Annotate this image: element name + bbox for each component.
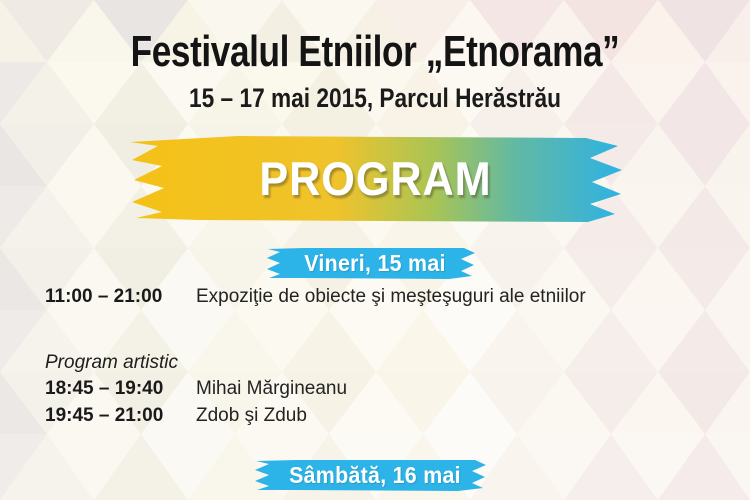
- day-ribbon-vineri: Vineri, 15 mai: [264, 246, 486, 280]
- program-banner: PROGRAM: [118, 132, 633, 224]
- schedule-row: 19:45 – 21:00 Zdob şi Zdub: [45, 406, 705, 427]
- page-subtitle: 15 – 17 mai 2015, Parcul Herăstrău: [60, 85, 690, 112]
- program-banner-label: PROGRAM: [139, 132, 613, 226]
- schedule-description: Mihai Mărgineanu: [196, 379, 347, 400]
- schedule-time: 19:45 – 21:00: [45, 406, 196, 427]
- schedule-section-note: Program artistic: [45, 352, 705, 374]
- schedule-row: 18:45 – 19:40 Mihai Mărgineanu: [45, 379, 705, 400]
- day-ribbon-sambata-label: Sâmbătă, 16 mai: [261, 458, 490, 493]
- schedule-time: 18:45 – 19:40: [45, 379, 196, 400]
- day-ribbon-vineri-label: Vineri, 15 mai: [272, 246, 478, 281]
- poster-canvas: Festivalul Etniilor „Etnorama” 15 – 17 m…: [0, 0, 750, 500]
- schedule-description: Expoziţie de obiecte şi meşteşuguri ale …: [196, 287, 586, 308]
- schedule-time: 11:00 – 21:00: [45, 287, 196, 308]
- schedule-row: 11:00 – 21:00 Expoziţie de obiecte şi me…: [45, 287, 705, 308]
- poster-header: Festivalul Etniilor „Etnorama” 15 – 17 m…: [0, 30, 750, 112]
- schedule-description: Zdob şi Zdub: [196, 406, 307, 427]
- page-title: Festivalul Etniilor „Etnorama”: [75, 30, 675, 74]
- day-ribbon-sambata: Sâmbătă, 16 mai: [252, 458, 498, 492]
- schedule-list: 11:00 – 21:00 Expoziţie de obiecte şi me…: [45, 287, 705, 427]
